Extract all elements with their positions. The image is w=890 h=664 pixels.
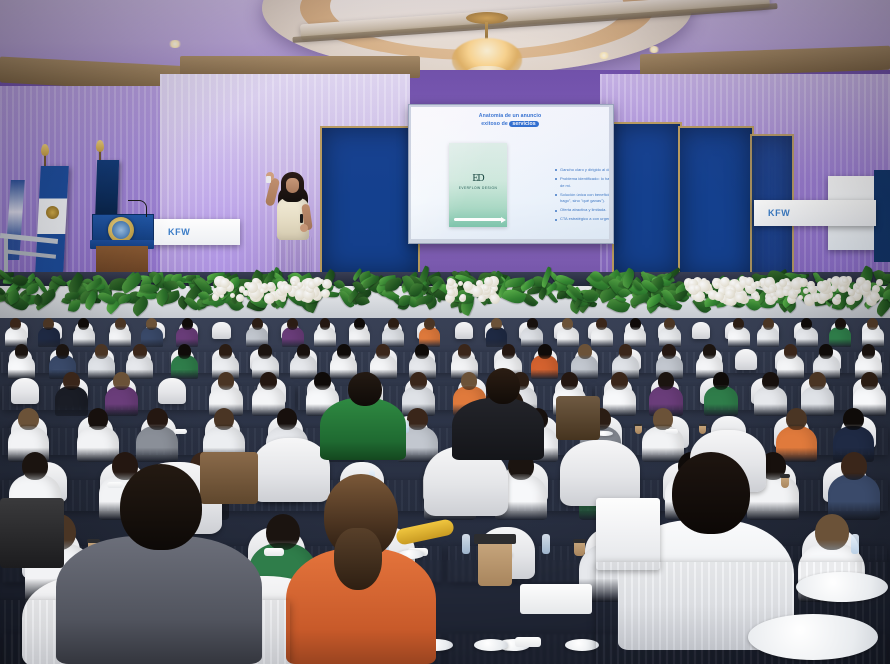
conference-hall-photo: Anatomía de un anuncio exitoso de servic…: [0, 0, 890, 664]
attendee-body: [754, 386, 787, 415]
coffee-cup: [635, 425, 642, 435]
attendee-body: [349, 327, 371, 346]
attendee-body: [642, 426, 684, 463]
handheld-microphone-icon: [300, 214, 303, 223]
flower-bloom: [447, 278, 454, 285]
napkin: [520, 584, 592, 614]
attendee-head: [320, 318, 331, 330]
napkin: [107, 482, 123, 488]
attendee-head: [348, 372, 382, 406]
attendee-head: [410, 372, 427, 390]
flower-bloom: [846, 296, 855, 305]
coffee-cup-lid: [474, 534, 516, 544]
attendee-head: [861, 372, 878, 390]
flower-bloom: [751, 282, 757, 288]
coffee-cup-lid: [573, 539, 586, 543]
attendee-body: [290, 355, 317, 379]
flower-bloom: [478, 295, 485, 302]
attendee-head: [95, 344, 109, 359]
attendee-head: [182, 318, 193, 330]
attendee-head: [43, 318, 54, 330]
coffee-cup-lid: [634, 424, 642, 427]
attendee-body: [829, 327, 851, 346]
chair-cover: [735, 349, 758, 370]
flower-bloom: [264, 293, 275, 304]
flower-bloom: [754, 294, 760, 300]
attendee-head: [56, 344, 70, 359]
attendee-head: [214, 408, 235, 430]
microphone-gooseneck-icon: [128, 200, 147, 217]
flower-bloom: [842, 278, 847, 283]
kfw-banner-right-text: KFW: [768, 208, 790, 218]
water-bottle: [462, 534, 470, 554]
attendee-body: [105, 386, 138, 415]
napkin: [665, 429, 678, 434]
attendee-head: [147, 408, 168, 430]
attendee-head: [713, 372, 730, 390]
handbag: [200, 452, 258, 504]
coffee-cup-lid: [780, 474, 790, 477]
attendee-body: [77, 426, 119, 463]
audience-table: [595, 386, 889, 410]
attendee-head: [862, 344, 876, 359]
attendee-body: [55, 386, 88, 415]
attendee-head: [733, 318, 744, 330]
plate: [796, 572, 888, 602]
attendee-head: [376, 344, 390, 359]
attendee-head: [841, 452, 867, 480]
water-bottle: [851, 534, 859, 554]
chair-cover: [158, 378, 186, 404]
attendee-body: [109, 327, 131, 346]
napkin: [174, 429, 187, 434]
attendee-body: [136, 426, 178, 463]
flower-bloom: [694, 285, 701, 292]
secondary-screen-edge: [874, 170, 890, 262]
attendee-body: [141, 327, 163, 346]
attendee-body: [38, 327, 60, 346]
attendee-body: [531, 355, 558, 379]
attendee-head: [596, 318, 607, 330]
flower-bloom: [283, 284, 292, 293]
attendee-head: [415, 344, 429, 359]
attendee-head: [619, 344, 633, 359]
downlight: [648, 46, 660, 53]
flower-bloom: [297, 282, 303, 288]
attendee-head: [664, 318, 675, 330]
attendee-body: [704, 386, 737, 415]
attendee-head: [562, 318, 573, 330]
coffee-cup: [574, 541, 585, 556]
el-salvador-flag-emblem: [46, 206, 59, 219]
attendee-head: [133, 344, 147, 359]
plate: [565, 639, 599, 651]
flag-finial: [41, 144, 49, 156]
attendee-body-green: [320, 398, 406, 460]
attendee-head: [218, 372, 235, 390]
attendee-body: [796, 327, 818, 346]
attendee-head: [527, 318, 538, 330]
attendee-head: [297, 344, 311, 359]
attendee-head: [18, 408, 39, 430]
chair-cover: [692, 322, 710, 339]
attendee-head: [486, 368, 520, 404]
screen-glare: [411, 107, 609, 239]
attendee-head: [88, 408, 109, 430]
attendee-head: [786, 408, 807, 430]
government-seal-inner: [112, 221, 130, 239]
attendee-body-dark: [452, 398, 544, 460]
chair-cover: [11, 378, 39, 404]
attendee-head: [287, 318, 298, 330]
presentation-clicker-icon: [266, 176, 271, 183]
flower-bloom: [267, 282, 275, 290]
water-bottle: [542, 534, 550, 554]
attendee-head: [120, 464, 202, 550]
kfw-banner-left-text: KFW: [168, 227, 190, 237]
attendee-body: [521, 327, 543, 346]
coffee-cup: [781, 476, 790, 488]
napkin: [264, 548, 284, 556]
attendee-head: [809, 372, 826, 390]
attendee-head: [219, 344, 233, 359]
coffee-cup-lid: [699, 424, 707, 427]
attendee-head: [491, 318, 502, 330]
chair-cover: [252, 438, 330, 502]
downlight: [598, 52, 610, 59]
attendee-head: [113, 372, 130, 390]
attendee-head: [458, 344, 472, 359]
attendee-head: [15, 344, 29, 359]
speaker-face: [286, 178, 299, 193]
attendee-head: [672, 452, 750, 534]
attendee-head: [146, 318, 157, 330]
attendee-head: [801, 318, 812, 330]
attendee-head: [819, 344, 833, 359]
attendee-head: [63, 372, 80, 390]
attendee-head: [538, 344, 552, 359]
handbag: [0, 498, 64, 568]
attendee-head: [611, 372, 628, 390]
kfw-banner-right: KFW: [754, 200, 876, 226]
stage-backdrop-panel: [320, 126, 420, 276]
attendee-body: [828, 474, 880, 520]
attendee-body: [126, 355, 153, 379]
chair-cover: [455, 322, 473, 339]
flower-bloom: [460, 294, 465, 299]
plate: [474, 639, 508, 651]
attendee-head: [277, 408, 298, 430]
attendee-head: [266, 514, 300, 550]
flower-bloom: [870, 292, 880, 302]
attendee-body: [557, 327, 579, 346]
attendee-body: [486, 327, 508, 346]
flower-bloom: [321, 289, 330, 298]
attendee-body: [88, 355, 115, 379]
chair-cover: [560, 440, 640, 506]
attendee-head: [314, 372, 331, 390]
flower-bloom: [862, 282, 871, 291]
attendee-head: [662, 344, 676, 359]
stage-backdrop-panel: [678, 126, 754, 280]
attendee-body: [757, 327, 779, 346]
attendee-head: [762, 372, 779, 390]
stage-backdrop-panel: [612, 122, 682, 278]
flower-bloom: [799, 278, 808, 287]
attendee-head: [424, 318, 435, 330]
attendee-body: [314, 327, 336, 346]
attendee-head: [784, 344, 798, 359]
attendee-ponytail: [334, 528, 382, 590]
takeaway-box: [596, 498, 660, 570]
flower-bloom: [848, 289, 854, 295]
attendee-head: [461, 372, 478, 390]
attendee-head: [260, 372, 277, 390]
coffee-cup: [478, 540, 512, 586]
flower-bloom: [236, 294, 244, 302]
attendee-head: [337, 344, 351, 359]
attendee-head: [578, 344, 592, 359]
handbag: [556, 396, 600, 440]
downlight: [168, 40, 182, 48]
attendee-head: [703, 344, 717, 359]
plate: [748, 614, 878, 660]
attendee-body: [171, 355, 198, 379]
flower-bloom: [835, 294, 841, 300]
attendee-head: [10, 318, 21, 330]
attendee-head: [658, 372, 675, 390]
attendee-head: [115, 318, 126, 330]
attendee-head: [653, 408, 674, 430]
attendee-head: [354, 318, 365, 330]
flower-bloom: [260, 288, 266, 294]
flag-finial: [96, 140, 104, 152]
speaker-lower-hand: [300, 224, 308, 232]
attendee-head: [630, 318, 641, 330]
attendee-body: [801, 386, 834, 415]
attendee-head: [178, 344, 192, 359]
attendee-body: [8, 355, 35, 379]
attendee-body: [777, 355, 804, 379]
flower-bloom: [772, 296, 777, 301]
chair-cover: [212, 322, 230, 339]
attendee-body: [73, 327, 95, 346]
attendee-body: [728, 327, 750, 346]
attendee-head: [388, 318, 399, 330]
flower-bloom: [818, 282, 828, 292]
attendee-head: [815, 514, 849, 550]
kfw-banner-left: KFW: [150, 219, 240, 245]
attendee-head: [252, 318, 263, 330]
attendee-head: [22, 452, 48, 480]
attendee-head: [407, 408, 428, 430]
attendee-head: [258, 344, 272, 359]
attendee-head: [78, 318, 89, 330]
napkin: [515, 637, 541, 647]
attendee-body: [591, 327, 613, 346]
flower-bloom: [447, 289, 454, 296]
attendee-head: [835, 318, 846, 330]
flower-bloom: [490, 294, 500, 304]
attendee-head: [502, 344, 516, 359]
attendee-body-suit: [56, 536, 262, 664]
attendee-head: [867, 318, 878, 330]
floral-runner: [0, 262, 890, 308]
attendee-head: [843, 408, 864, 430]
attendee-head: [763, 318, 774, 330]
attendee-head: [561, 372, 578, 390]
